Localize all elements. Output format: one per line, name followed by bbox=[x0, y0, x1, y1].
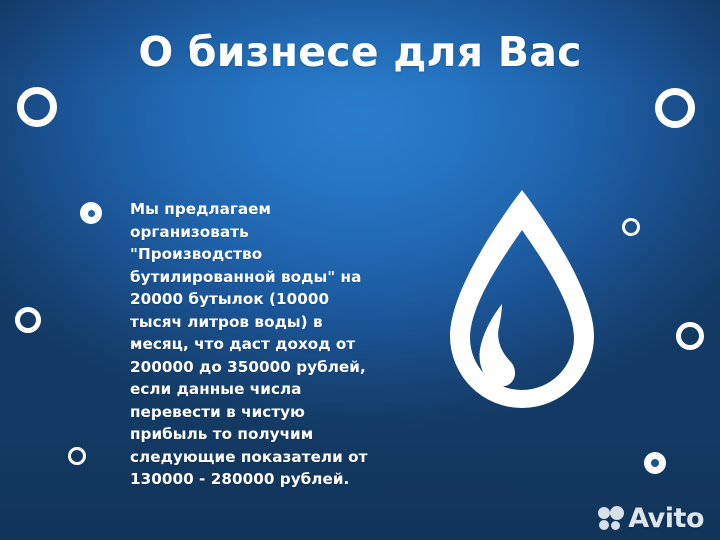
bullet-list-item: Мы предлагаем организовать "Производство… bbox=[80, 198, 380, 491]
page-title: О бизнесе для Вас bbox=[0, 28, 720, 76]
ring-top-right-icon bbox=[655, 88, 695, 128]
water-drop-icon bbox=[436, 186, 608, 432]
avito-wordmark: Avito bbox=[628, 505, 704, 532]
slide-canvas: О бизнесе для Вас Мы предлагаем организо… bbox=[0, 0, 720, 540]
donut-bottom-right-icon bbox=[644, 452, 666, 474]
avito-watermark: Avito bbox=[598, 505, 704, 532]
bullet-text: Мы предлагаем организовать "Производство… bbox=[130, 198, 380, 491]
ring-mid-left-icon bbox=[15, 307, 41, 333]
bullet-marker-icon bbox=[80, 202, 102, 224]
avito-dots-icon bbox=[598, 506, 624, 532]
ring-mid-right-icon bbox=[622, 218, 640, 236]
ring-top-left-icon bbox=[17, 87, 57, 127]
ring-right-edge-icon bbox=[676, 322, 704, 350]
